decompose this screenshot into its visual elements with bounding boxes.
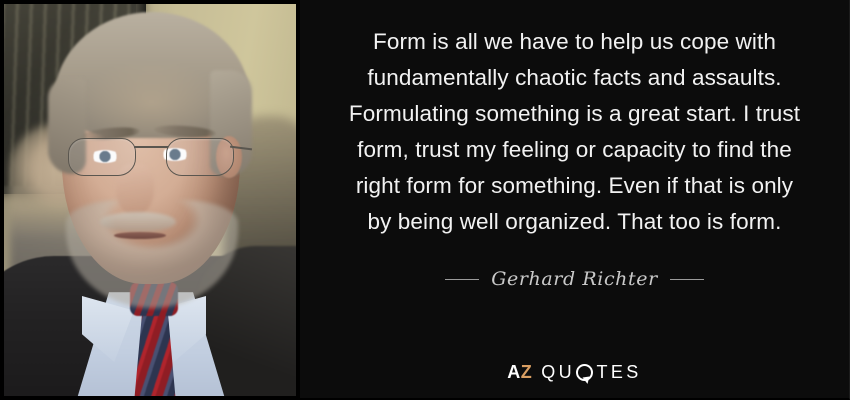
speech-bubble-o-icon (576, 364, 593, 381)
quote-panel: Form is all we have to help us cope with… (300, 0, 849, 398)
portrait-photo (4, 4, 296, 396)
eyeglass-lens-right (166, 138, 234, 176)
moustache (100, 212, 176, 232)
azquotes-logo[interactable]: AZ QU TES (300, 363, 849, 381)
attribution: Gerhard Richter (346, 268, 803, 290)
brand-az-wordmark: AZ (507, 363, 532, 381)
attribution-rule-left (445, 279, 479, 280)
quote-text: Form is all we have to help us cope with… (346, 24, 803, 240)
brand-quotes-part-1: QU (541, 363, 575, 381)
attribution-author: Gerhard Richter (491, 268, 658, 290)
eyeglass-bridge (134, 146, 168, 148)
eyeglass-lens-left (68, 138, 136, 176)
attribution-rule-right (670, 279, 704, 280)
brand-letter-z: Z (521, 362, 533, 382)
eyeglasses (68, 138, 234, 180)
mouth (114, 232, 166, 239)
brand-letter-a: A (507, 362, 521, 382)
brand-quotes-part-2: TES (596, 363, 641, 381)
quote-card: Form is all we have to help us cope with… (0, 0, 850, 400)
portrait-panel (0, 0, 300, 400)
brand-quotes-wordmark: QU TES (541, 363, 641, 381)
